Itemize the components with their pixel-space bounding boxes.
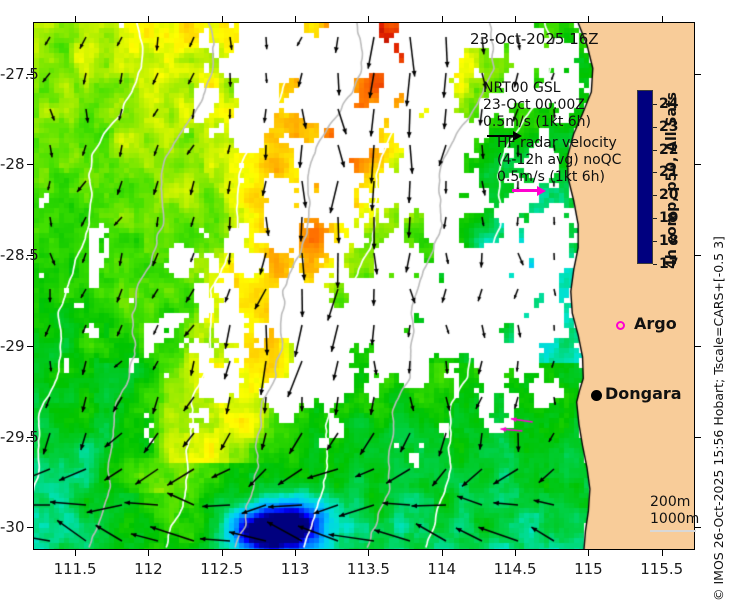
colorbar-tick xyxy=(653,264,657,265)
bathymetry-legend-line xyxy=(650,530,696,532)
bathymetry-legend: 200m 1000m xyxy=(650,494,699,528)
hf-legend-line2: (4-12h avg) noQC xyxy=(497,152,621,169)
colorbar-tick xyxy=(653,172,657,173)
x-axis-tick xyxy=(295,550,296,556)
x-axis-tick xyxy=(222,16,223,22)
x-axis-tick xyxy=(662,16,663,22)
y-axis-tick xyxy=(695,74,701,75)
x-axis-tick xyxy=(148,550,149,556)
y-axis-tick xyxy=(27,346,33,347)
model-legend-line3: 0.5m/s (1kt 6h) xyxy=(483,114,591,131)
x-axis-label: 115.5 xyxy=(640,560,683,578)
model-velocity-legend: NRT00 GSL 23-Oct 00:00Z 0.5m/s (1kt 6h) xyxy=(483,80,591,131)
argo-float-marker-icon[interactable] xyxy=(616,321,625,330)
y-axis-tick xyxy=(695,255,701,256)
x-axis-label: 114.5 xyxy=(494,560,537,578)
colorbar-tick xyxy=(653,127,657,128)
y-axis-tick xyxy=(695,437,701,438)
x-axis-label: 113.5 xyxy=(347,560,390,578)
argo-label: Argo xyxy=(634,314,677,333)
x-axis-label: 112.5 xyxy=(200,560,243,578)
y-axis-label: -27.5 xyxy=(0,65,24,83)
depth-label-1000m: 1000m xyxy=(650,511,699,528)
x-axis-tick xyxy=(515,16,516,22)
x-axis-tick xyxy=(368,16,369,22)
y-axis-label: -29 xyxy=(0,337,24,355)
colorbar-tick xyxy=(653,218,657,219)
x-axis-tick xyxy=(222,550,223,556)
x-axis-tick xyxy=(148,16,149,22)
hf-reference-arrow-icon xyxy=(512,186,546,196)
y-axis-tick xyxy=(695,346,701,347)
figure-root: 23-Oct-2025 16Z NRT00 GSL 23-Oct 00:00Z … xyxy=(0,0,740,592)
model-legend-line2: 23-Oct 00:00Z xyxy=(483,97,591,114)
x-axis-label: 113 xyxy=(281,560,310,578)
y-axis-label: -30 xyxy=(0,518,24,536)
y-axis-tick xyxy=(27,164,33,165)
colorbar-gradient xyxy=(637,90,653,264)
colorbar: 1718192021222324 xyxy=(637,90,653,264)
velocity-vector-layer xyxy=(34,23,694,549)
x-axis-tick xyxy=(368,550,369,556)
y-axis-label: -28 xyxy=(0,155,24,173)
x-axis-tick xyxy=(515,550,516,556)
x-axis-tick xyxy=(662,550,663,556)
y-axis-tick xyxy=(27,527,33,528)
colorbar-title: 4h comp, p50, All Sats xyxy=(664,92,680,269)
x-axis-label: 114 xyxy=(427,560,456,578)
x-axis-tick xyxy=(75,550,76,556)
x-axis-tick xyxy=(295,16,296,22)
depth-label-200m: 200m xyxy=(650,494,699,511)
colorbar-tick xyxy=(653,150,657,151)
colorbar-tick xyxy=(653,104,657,105)
x-axis-tick xyxy=(442,550,443,556)
x-axis-tick xyxy=(588,550,589,556)
hf-legend-line1: HF radar velocity xyxy=(497,135,621,152)
x-axis-label: 112 xyxy=(134,560,163,578)
dongara-station-marker-icon[interactable] xyxy=(591,390,602,401)
y-axis-tick xyxy=(695,527,701,528)
y-axis-label: -29.5 xyxy=(0,428,24,446)
x-axis-label: 115 xyxy=(574,560,603,578)
dongara-label: Dongara xyxy=(605,384,682,403)
hf-radar-legend: HF radar velocity (4-12h avg) noQC 0.5m/… xyxy=(497,135,621,186)
hf-legend-line3: 0.5m/s (1kt 6h) xyxy=(497,169,621,186)
copyright-credit: © IMOS 26-Oct-2025 15:56 Hobart; Tscale=… xyxy=(711,236,726,601)
y-axis-tick xyxy=(695,164,701,165)
x-axis-tick xyxy=(588,16,589,22)
map-plot-area[interactable] xyxy=(33,22,695,550)
colorbar-tick xyxy=(653,195,657,196)
x-axis-label: 111.5 xyxy=(54,560,97,578)
model-legend-line1: NRT00 GSL xyxy=(483,80,591,97)
x-axis-tick xyxy=(75,16,76,22)
y-axis-label: -28.5 xyxy=(0,246,24,264)
date-stamp: 23-Oct-2025 16Z xyxy=(470,30,599,48)
colorbar-tick xyxy=(653,241,657,242)
x-axis-tick xyxy=(442,16,443,22)
